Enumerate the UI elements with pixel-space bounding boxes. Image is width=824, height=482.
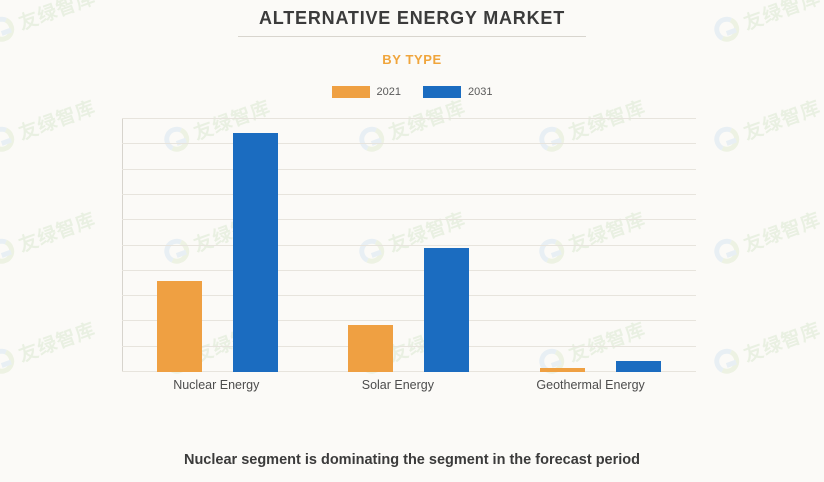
chart-title: ALTERNATIVE ENERGY MARKET xyxy=(0,8,824,29)
watermark: 友绿智库 xyxy=(0,93,99,156)
watermark: 友绿智库 xyxy=(710,93,824,156)
legend-swatch-2031-icon xyxy=(423,86,461,98)
watermark-text: 友绿智库 xyxy=(15,315,99,368)
bar-2021[interactable] xyxy=(348,325,393,372)
watermark: 友绿智库 xyxy=(0,205,99,268)
watermark-text: 友绿智库 xyxy=(740,205,824,258)
bar-group xyxy=(348,118,469,372)
watermark: 友绿智库 xyxy=(710,205,824,268)
bar-2021[interactable] xyxy=(157,281,202,372)
bar-groups xyxy=(122,118,696,372)
legend-swatch-2021-icon xyxy=(332,86,370,98)
title-divider xyxy=(238,36,586,37)
x-axis-label-2: Geothermal Energy xyxy=(536,378,644,392)
watermark-text: 友绿智库 xyxy=(15,93,99,146)
watermark: 友绿智库 xyxy=(710,315,824,378)
g-logo-icon xyxy=(0,123,18,155)
chart-container: ALTERNATIVE ENERGY MARKET BY TYPE 2021 2… xyxy=(0,0,824,482)
watermark: 友绿智库 xyxy=(0,315,99,378)
chart-caption: Nuclear segment is dominating the segmen… xyxy=(0,452,824,468)
bar-2031[interactable] xyxy=(424,248,469,372)
legend-item-2021[interactable]: 2021 xyxy=(332,86,401,98)
watermark-text: 友绿智库 xyxy=(740,315,824,368)
g-logo-icon xyxy=(0,235,18,267)
bar-2031[interactable] xyxy=(616,361,661,372)
chart-subtitle: BY TYPE xyxy=(0,52,824,67)
watermark-text: 友绿智库 xyxy=(15,205,99,258)
bar-group xyxy=(540,118,661,372)
bar-group xyxy=(157,118,278,372)
g-logo-icon xyxy=(0,345,18,377)
chart-legend: 2021 2031 xyxy=(0,86,824,98)
g-logo-icon xyxy=(711,123,743,155)
g-logo-icon xyxy=(711,345,743,377)
legend-label-2031: 2031 xyxy=(468,86,492,98)
bar-2021[interactable] xyxy=(540,368,585,372)
legend-item-2031[interactable]: 2031 xyxy=(423,86,492,98)
watermark-text: 友绿智库 xyxy=(740,93,824,146)
bar-2031[interactable] xyxy=(233,133,278,372)
g-logo-icon xyxy=(711,235,743,267)
x-axis-labels: Nuclear EnergySolar EnergyGeothermal Ene… xyxy=(122,378,696,392)
legend-label-2021: 2021 xyxy=(377,86,401,98)
x-axis-label-0: Nuclear Energy xyxy=(173,378,259,392)
x-axis-label-1: Solar Energy xyxy=(362,378,434,392)
plot-area xyxy=(122,118,696,372)
